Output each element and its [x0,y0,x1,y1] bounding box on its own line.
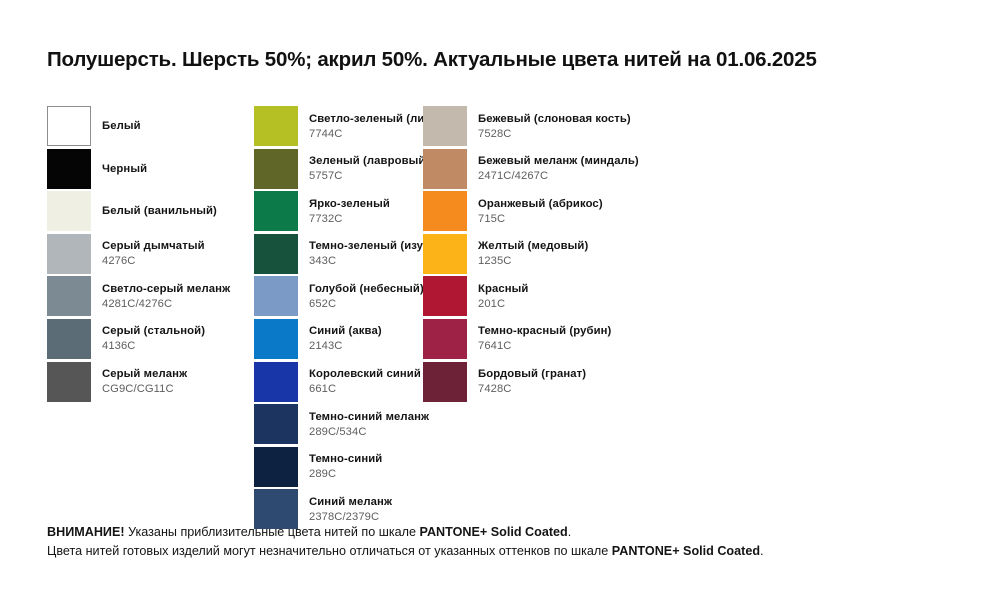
color-chart-page: Полушерсть. Шерсть 50%; акрил 50%. Актуа… [0,0,1000,609]
swatch-row: Красный201C [423,276,673,319]
color-swatch [423,191,467,231]
swatch-row: Темно-зеленый (изумруд)343C [254,234,426,277]
swatch-pantone-code: 289C/534C [309,425,429,439]
swatch-pantone-code: 4281C/4276C [102,297,230,311]
color-swatch [423,319,467,359]
color-swatch [47,319,91,359]
color-swatch [254,276,298,316]
color-swatch [423,106,467,146]
swatch-labels: Темно-синий меланж289C/534C [309,404,429,444]
swatch-pantone-code: 2143C [309,339,382,353]
swatch-name: Бежевый (слоновая кость) [478,112,631,126]
swatch-pantone-code: 7528C [478,127,631,141]
swatch-name: Желтый (медовый) [478,239,588,253]
swatch-row: Ярко-зеленый7732C [254,191,426,234]
swatch-labels: Темно-синий289C [309,447,382,487]
swatch-pantone-code: 4276C [102,254,205,268]
swatch-pantone-code: 1235C [478,254,588,268]
swatch-labels: Бежевый (слоновая кость)7528C [478,106,631,146]
footer-attention-label: ВНИМАНИЕ! [47,525,125,539]
swatch-pantone-code: CG9C/CG11C [102,382,187,396]
pantone-brand-1: PANTONE+ Solid Coated [419,525,567,539]
swatch-labels: Серый меланжCG9C/CG11C [102,362,187,402]
swatch-name: Серый меланж [102,367,187,381]
footer-line-2-text: Цвета нитей готовых изделий могут незнач… [47,544,612,558]
color-swatch [47,276,91,316]
swatch-name: Бордовый (гранат) [478,367,586,381]
swatch-row: Желтый (медовый)1235C [423,234,673,277]
swatch-pantone-code: 201C [478,297,528,311]
swatch-row: Темно-синий меланж289C/534C [254,404,426,447]
swatch-name: Белый (ванильный) [102,204,217,218]
footer-note: ВНИМАНИЕ! Указаны приблизительные цвета … [47,523,947,561]
color-swatch [423,362,467,402]
swatch-pantone-code: 5757C [309,169,429,183]
swatch-labels: Светло-зеленый (липа)7744C [309,106,442,146]
color-swatch [423,276,467,316]
footer-line-1-text: Указаны приблизительные цвета нитей по ш… [125,525,420,539]
swatch-pantone-code: 7428C [478,382,586,396]
color-swatch [254,234,298,274]
color-swatch [423,149,467,189]
swatch-labels: Серый дымчатый4276C [102,234,205,274]
swatch-pantone-code: 652C [309,297,424,311]
swatch-row: Бежевый меланж (миндаль)2471C/4267C [423,149,673,192]
swatch-name: Серый (стальной) [102,324,205,338]
swatch-name: Темно-красный (рубин) [478,324,611,338]
swatch-name: Зеленый (лавровый) [309,154,429,168]
swatch-pantone-code: 7744C [309,127,442,141]
color-swatch [254,404,298,444]
swatch-labels: Королевский синий661C [309,362,421,402]
swatch-labels: Голубой (небесный)652C [309,276,424,316]
color-swatch [254,447,298,487]
swatch-name: Красный [478,282,528,296]
color-swatch [47,234,91,274]
swatch-labels: Синий (аква)2143C [309,319,382,359]
swatch-column-neutrals: БелыйЧерныйБелый (ванильный)Серый дымчат… [47,106,247,404]
swatch-labels: Белый [102,106,141,146]
swatch-labels: Красный201C [478,276,528,316]
swatch-labels: Белый (ванильный) [102,191,217,231]
swatch-row: Серый меланжCG9C/CG11C [47,362,247,405]
swatch-row: Серый (стальной)4136C [47,319,247,362]
footer-line-1: ВНИМАНИЕ! Указаны приблизительные цвета … [47,523,947,542]
swatch-pantone-code: 715C [478,212,603,226]
swatch-row: Темно-синий289C [254,447,426,490]
swatch-labels: Серый (стальной)4136C [102,319,205,359]
pantone-brand-2: PANTONE+ Solid Coated [612,544,760,558]
swatch-pantone-code: 289C [309,467,382,481]
swatch-column-warm: Бежевый (слоновая кость)7528CБежевый мел… [423,106,673,404]
swatch-labels: Зеленый (лавровый)5757C [309,149,429,189]
swatch-row: Черный [47,149,247,192]
swatch-row: Бежевый (слоновая кость)7528C [423,106,673,149]
color-swatch [254,149,298,189]
swatch-name: Серый дымчатый [102,239,205,253]
swatch-labels: Черный [102,149,147,189]
page-title: Полушерсть. Шерсть 50%; акрил 50%. Актуа… [47,48,817,72]
swatch-labels: Ярко-зеленый7732C [309,191,390,231]
swatch-row: Королевский синий661C [254,362,426,405]
footer-line-1-end: . [568,525,572,539]
swatch-name: Ярко-зеленый [309,197,390,211]
color-swatch [254,362,298,402]
color-swatch [47,149,91,189]
footer-line-2: Цвета нитей готовых изделий могут незнач… [47,542,947,561]
swatch-labels: Бежевый меланж (миндаль)2471C/4267C [478,149,639,189]
color-swatch [423,234,467,274]
swatch-name: Темно-синий меланж [309,410,429,424]
swatch-row: Светло-зеленый (липа)7744C [254,106,426,149]
footer-line-2-end: . [760,544,764,558]
swatch-row: Зеленый (лавровый)5757C [254,149,426,192]
swatch-name: Светло-зеленый (липа) [309,112,442,126]
color-swatch [254,191,298,231]
swatch-name: Синий меланж [309,495,392,509]
swatch-row: Светло-серый меланж4281C/4276C [47,276,247,319]
swatch-pantone-code: 4136C [102,339,205,353]
swatch-row: Темно-красный (рубин)7641C [423,319,673,362]
swatch-column-greens-blues: Светло-зеленый (липа)7744CЗеленый (лавро… [254,106,426,532]
swatch-name: Белый [102,119,141,133]
swatch-row: Бордовый (гранат)7428C [423,362,673,405]
swatch-name: Светло-серый меланж [102,282,230,296]
swatch-name: Голубой (небесный) [309,282,424,296]
swatch-labels: Светло-серый меланж4281C/4276C [102,276,230,316]
swatch-name: Бежевый меланж (миндаль) [478,154,639,168]
swatch-pantone-code: 661C [309,382,421,396]
color-swatch [254,319,298,359]
swatch-row: Синий (аква)2143C [254,319,426,362]
swatch-name: Оранжевый (абрикос) [478,197,603,211]
swatch-row: Серый дымчатый4276C [47,234,247,277]
color-swatch [254,106,298,146]
color-swatch [47,191,91,231]
swatch-pantone-code: 7641C [478,339,611,353]
swatch-name: Королевский синий [309,367,421,381]
swatch-name: Синий (аква) [309,324,382,338]
swatch-labels: Темно-красный (рубин)7641C [478,319,611,359]
swatch-name: Темно-синий [309,452,382,466]
swatch-row: Белый [47,106,247,149]
swatch-pantone-code: 7732C [309,212,390,226]
swatch-row: Голубой (небесный)652C [254,276,426,319]
swatch-pantone-code: 2378C/2379C [309,510,392,524]
color-swatch [47,106,91,146]
swatch-row: Белый (ванильный) [47,191,247,234]
swatch-labels: Бордовый (гранат)7428C [478,362,586,402]
swatch-labels: Желтый (медовый)1235C [478,234,588,274]
swatch-row: Оранжевый (абрикос)715C [423,191,673,234]
color-swatch [47,362,91,402]
swatch-labels: Оранжевый (абрикос)715C [478,191,603,231]
swatch-pantone-code: 2471C/4267C [478,169,639,183]
swatch-name: Черный [102,162,147,176]
